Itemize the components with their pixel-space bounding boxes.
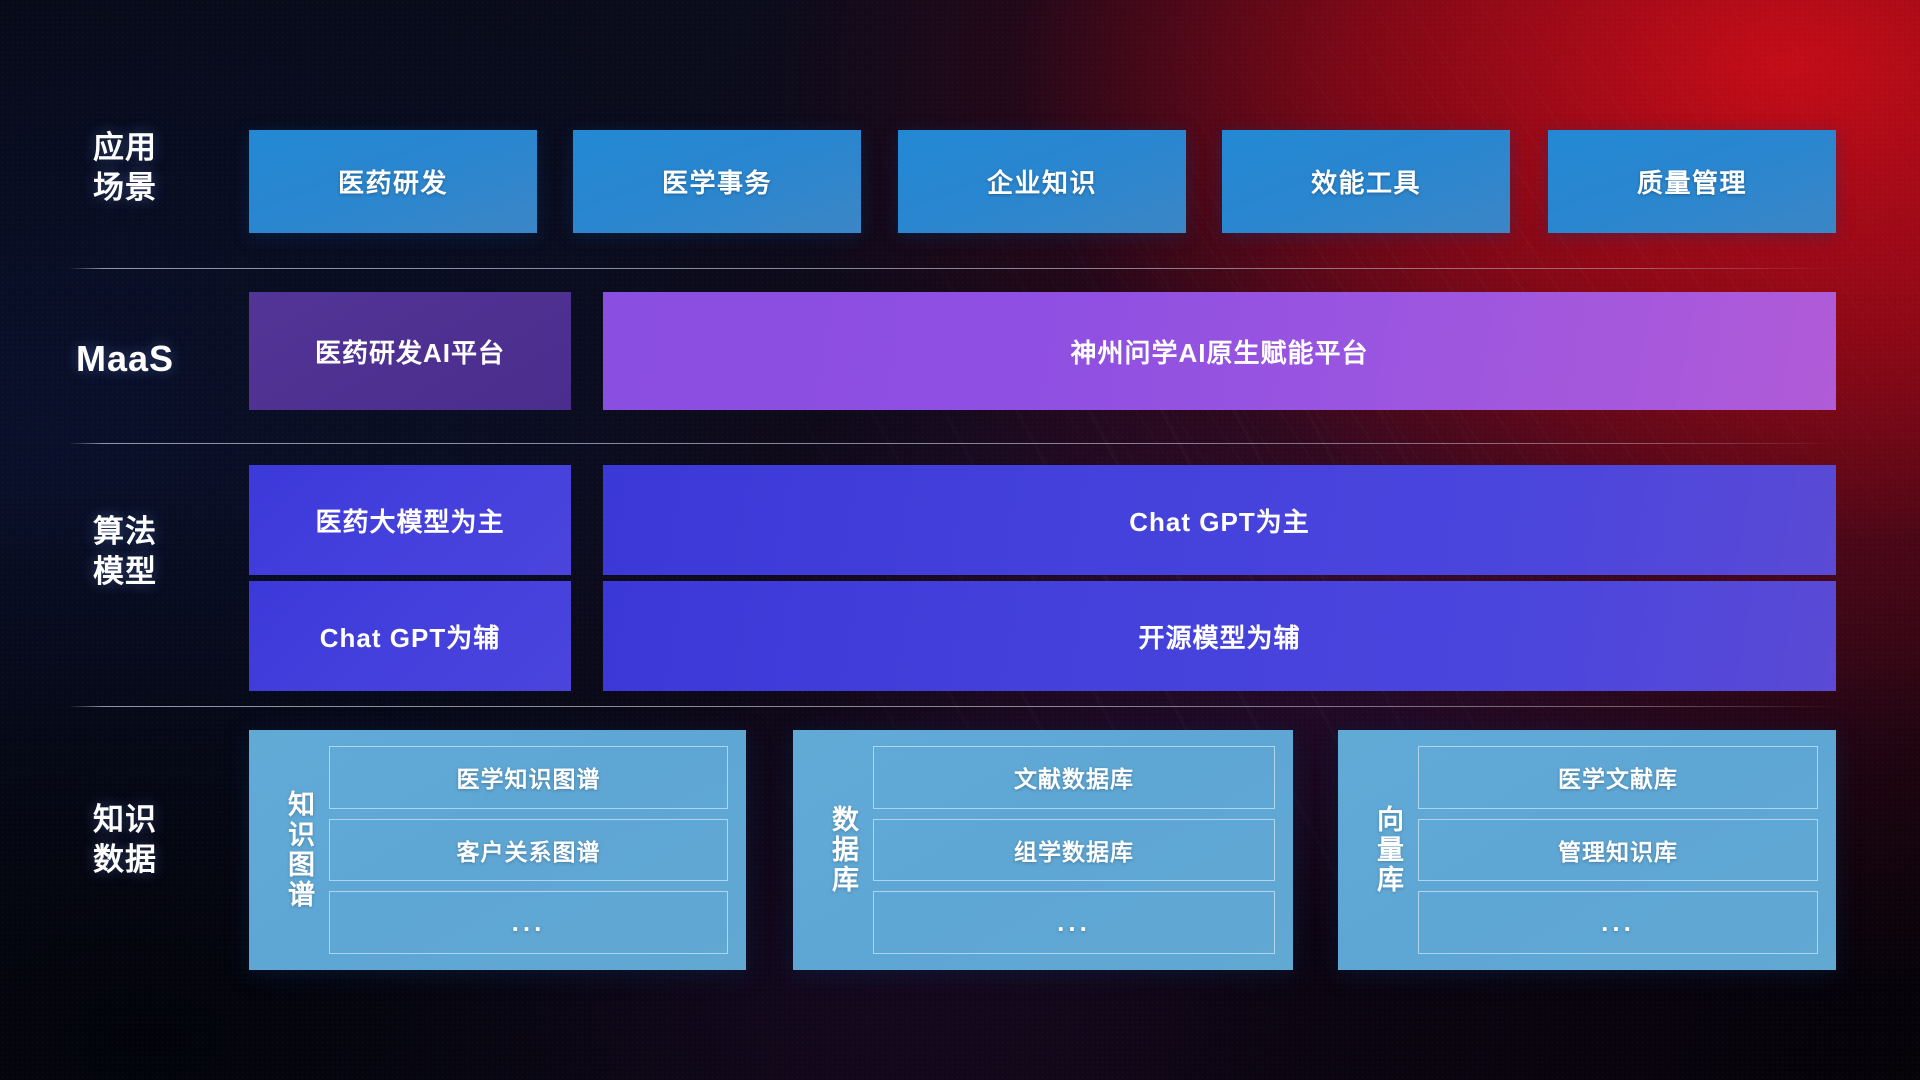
knowledge-panel-0[interactable]: 知识图谱 医学知识图谱 客户关系图谱 ... [249, 730, 746, 970]
knowledge-item[interactable]: 组学数据库 [873, 819, 1275, 882]
maas-right-box[interactable]: 神州问学AI原生赋能平台 [603, 292, 1836, 410]
knowledge-item[interactable]: 客户关系图谱 [329, 819, 728, 882]
algo-label: 开源模型为辅 [1138, 618, 1300, 655]
knowledge-item-more[interactable]: ... [1418, 891, 1818, 954]
app-tile-label: 医学事务 [662, 163, 772, 200]
algo-box-r0-left[interactable]: 医药大模型为主 [249, 465, 571, 575]
knowledge-panel-items: 医学文献库 管理知识库 ... [1418, 746, 1818, 954]
app-tile-3[interactable]: 效能工具 [1222, 130, 1510, 233]
knowledge-item[interactable]: 医学知识图谱 [329, 746, 728, 809]
row-label-knowledge-data: 知识 数据 [60, 800, 190, 880]
app-tile-label: 质量管理 [1637, 163, 1747, 200]
row-divider-2 [68, 443, 1840, 444]
algo-box-r1-right[interactable]: 开源模型为辅 [603, 581, 1836, 691]
row-label-maas: MaaS [60, 339, 190, 379]
algo-label: Chat GPT为辅 [320, 618, 500, 655]
algo-label: 医药大模型为主 [315, 502, 504, 539]
knowledge-panel-items: 医学知识图谱 客户关系图谱 ... [329, 746, 728, 954]
slide-canvas: 向量库 应用 场景 医药研发 医学事务 企业知识 效能工具 质量管理 MaaS … [0, 0, 1920, 1080]
knowledge-item-more[interactable]: ... [329, 891, 728, 954]
knowledge-panel-title: 向量库 [1352, 805, 1404, 895]
algo-label: Chat GPT为主 [1129, 502, 1309, 539]
knowledge-panel-title: 知识图谱 [263, 790, 315, 910]
knowledge-item[interactable]: 医学文献库 [1418, 746, 1818, 809]
app-tile-4[interactable]: 质量管理 [1548, 130, 1836, 233]
row-divider-1 [68, 268, 1840, 269]
knowledge-panel-items: 文献数据库 组学数据库 ... [873, 746, 1275, 954]
row-label-algorithm-model: 算法 模型 [60, 512, 190, 592]
maas-left-label: 医药研发AI平台 [315, 333, 505, 370]
row-divider-3 [68, 706, 1840, 707]
knowledge-item[interactable]: 文献数据库 [873, 746, 1275, 809]
maas-left-box[interactable]: 医药研发AI平台 [249, 292, 571, 410]
algo-box-r0-right[interactable]: Chat GPT为主 [603, 465, 1836, 575]
app-tile-label: 效能工具 [1311, 163, 1421, 200]
app-tile-label: 企业知识 [987, 163, 1097, 200]
knowledge-panel-1[interactable]: 数据库 文献数据库 组学数据库 ... [793, 730, 1293, 970]
app-tile-2[interactable]: 企业知识 [898, 130, 1186, 233]
app-tile-label: 医药研发 [338, 163, 448, 200]
knowledge-panel-2[interactable]: 向量库 医学文献库 管理知识库 ... [1338, 730, 1836, 970]
algo-box-r1-left[interactable]: Chat GPT为辅 [249, 581, 571, 691]
app-tile-0[interactable]: 医药研发 [249, 130, 537, 233]
maas-right-label: 神州问学AI原生赋能平台 [1070, 333, 1368, 370]
row-label-application-scenario: 应用 场景 [60, 128, 190, 208]
knowledge-panel-title: 数据库 [807, 805, 859, 895]
knowledge-item-more[interactable]: ... [873, 891, 1275, 954]
app-tile-1[interactable]: 医学事务 [573, 130, 861, 233]
knowledge-item[interactable]: 管理知识库 [1418, 819, 1818, 882]
